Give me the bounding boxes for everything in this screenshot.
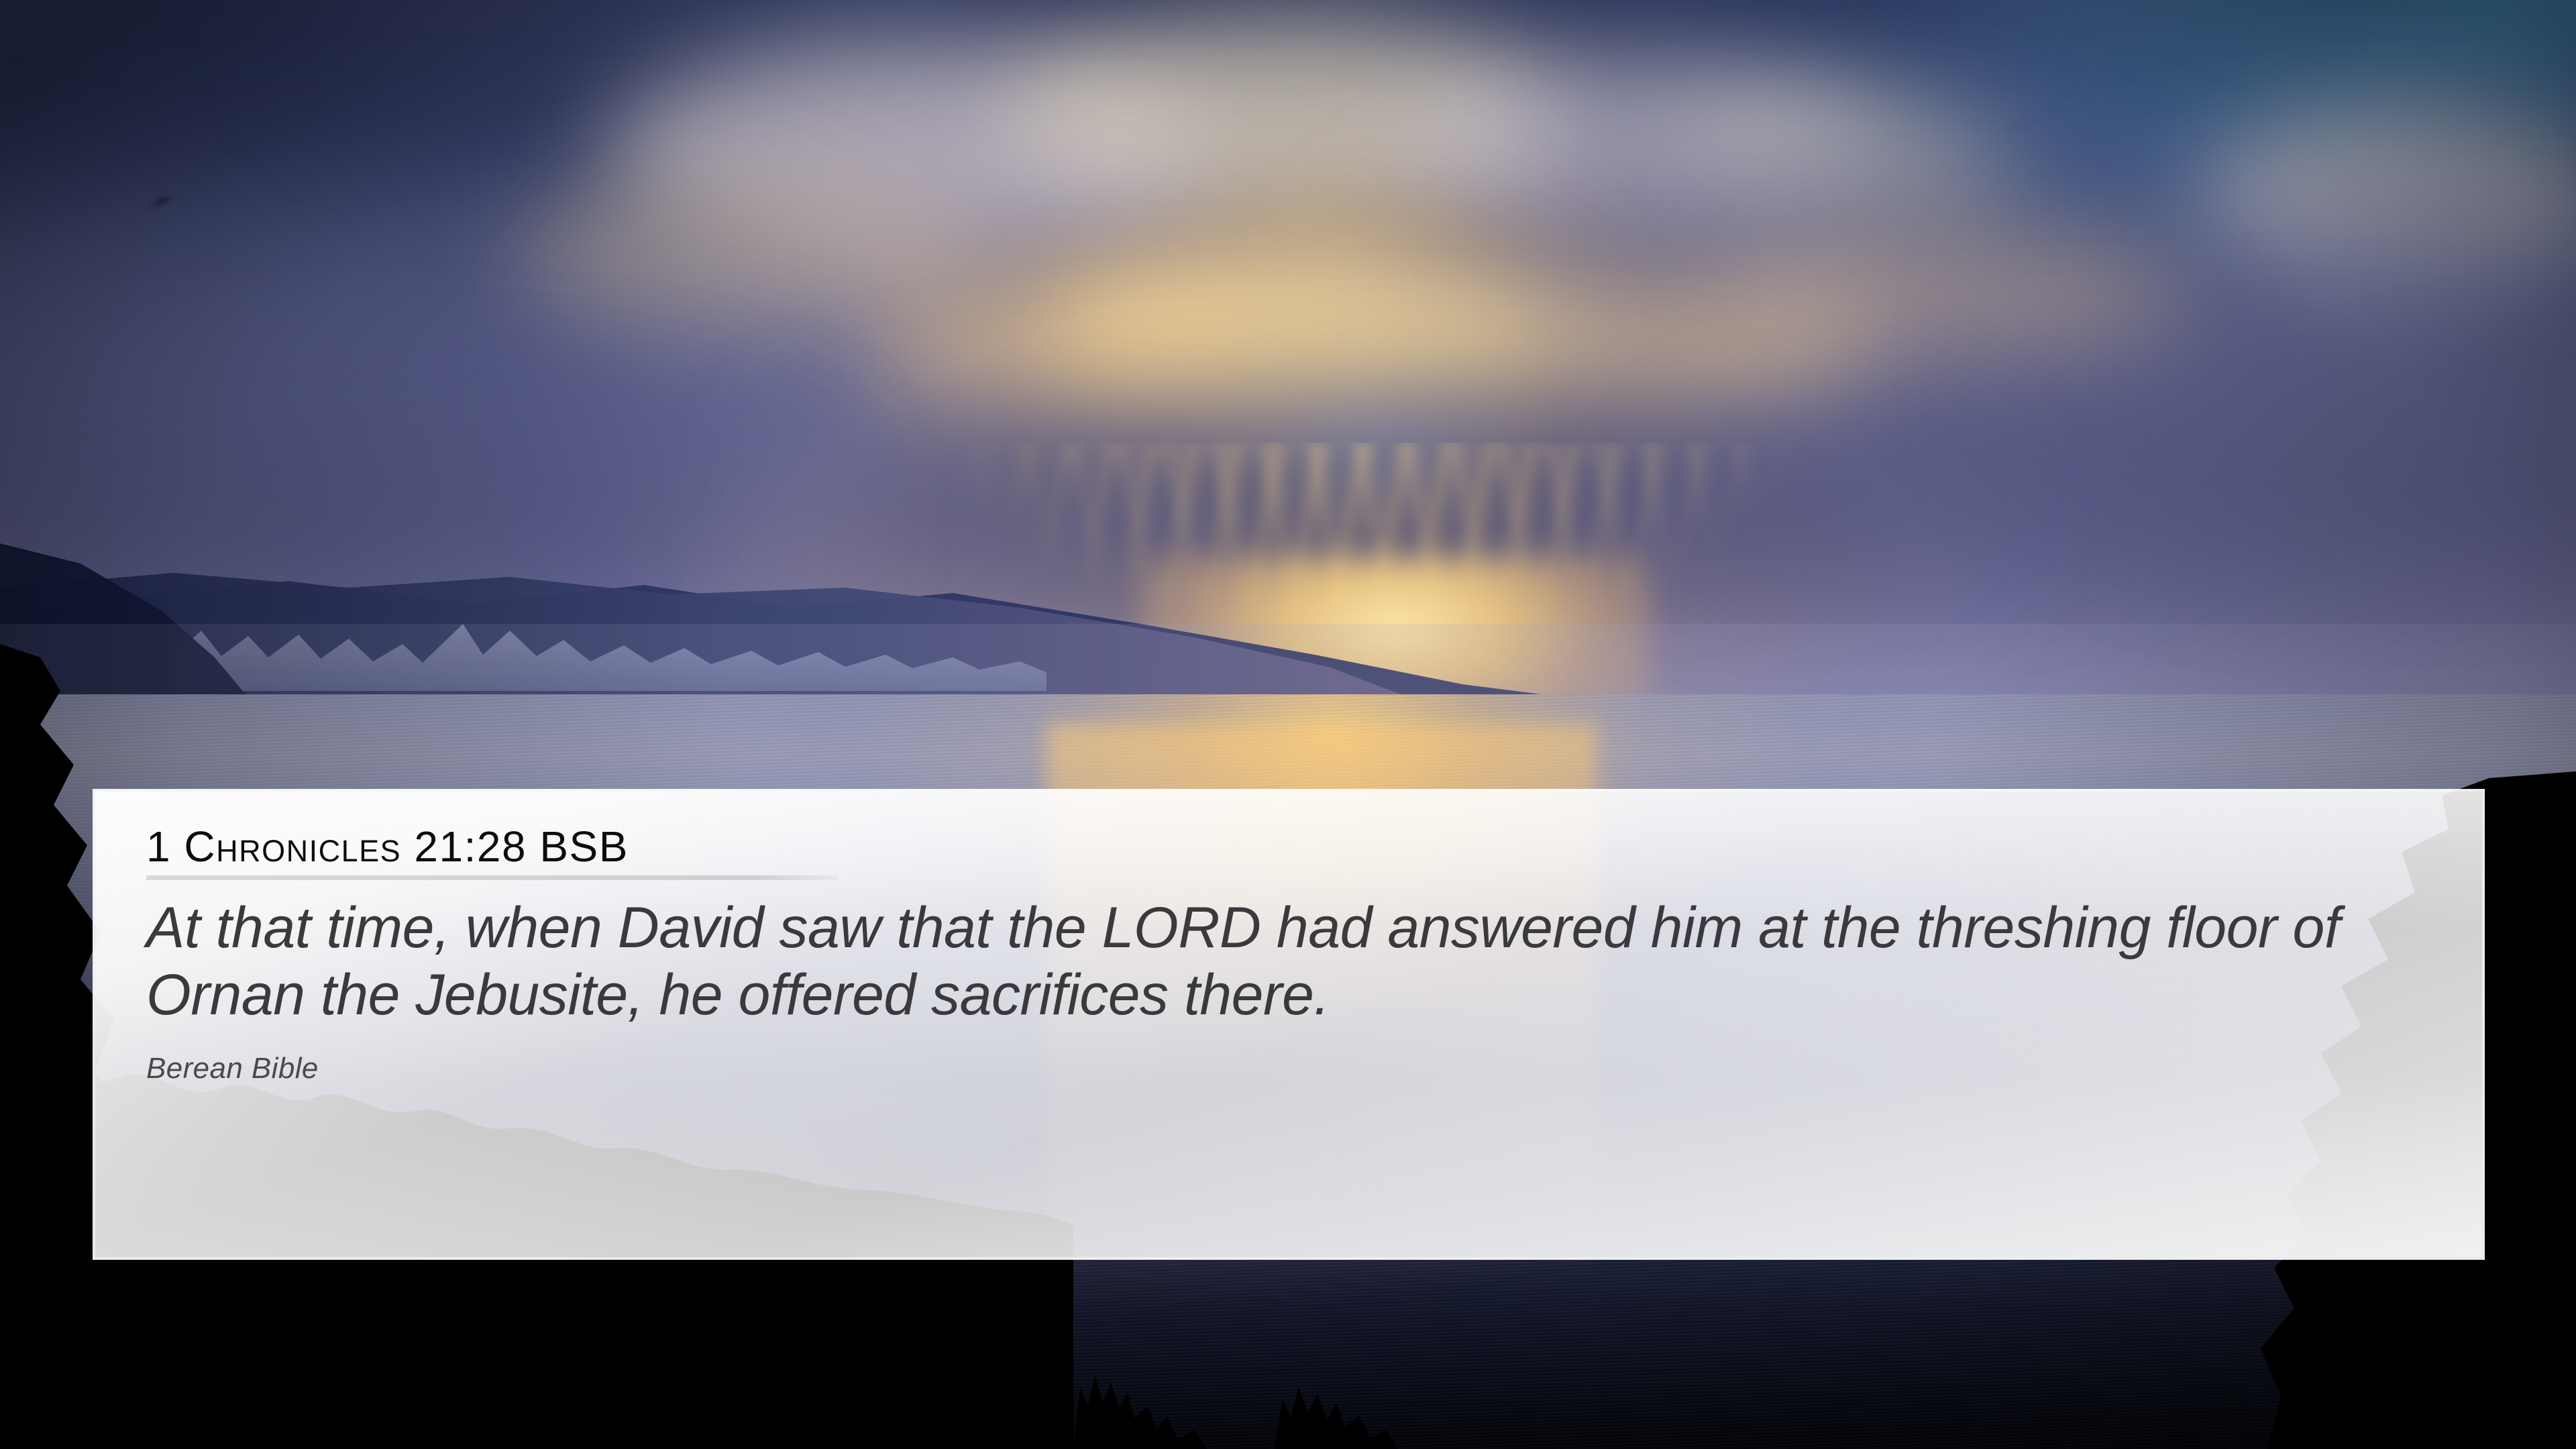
cloud-sunlit [510, 168, 979, 329]
verse-attribution: Berean Bible [146, 1052, 2482, 1085]
verse-image: 1 Chronicles 21:28 BSB At that time, whe… [0, 0, 2576, 1449]
reference-underline [146, 875, 837, 880]
cloud-sunlit [872, 282, 1248, 416]
verse-reference: 1 Chronicles 21:28 BSB [146, 824, 629, 874]
card-content: 1 Chronicles 21:28 BSB At that time, whe… [95, 792, 2482, 1257]
cloud-sunlit [1717, 221, 2187, 369]
verse-card: 1 Chronicles 21:28 BSB At that time, whe… [93, 789, 2485, 1260]
verse-text: At that time, when David saw that the LO… [146, 895, 2380, 1029]
tree-silhouettes [993, 1275, 1529, 1449]
